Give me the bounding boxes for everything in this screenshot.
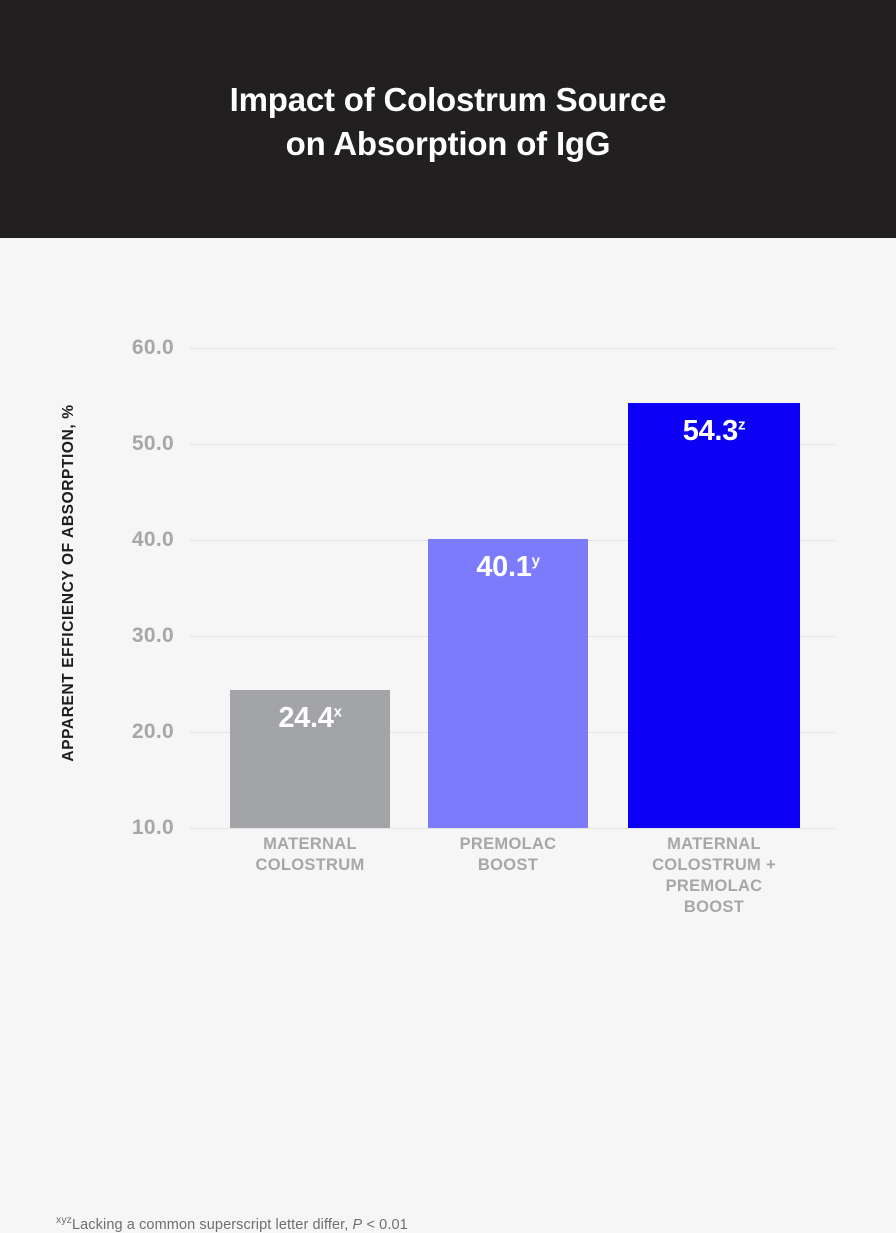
y-axis-tick-label: 50.0	[132, 432, 174, 456]
x-axis-category-label: MATERNALCOLOSTRUM	[208, 834, 412, 876]
footnote-text: Lacking a common superscript letter diff…	[72, 1217, 353, 1233]
chart-header-banner: Impact of Colostrum Source on Absorption…	[0, 0, 896, 238]
bar[interactable]: 24.4x	[230, 690, 390, 828]
x-axis-category-line: MATERNAL	[606, 834, 822, 855]
chart-container: APPARENT EFFICIENCY OF ABSORPTION, % 60.…	[0, 238, 896, 1024]
y-axis-tick-label: 40.0	[132, 528, 174, 552]
bar[interactable]: 40.1y	[428, 539, 588, 828]
page-title-line-1: Impact of Colostrum Source	[230, 81, 667, 118]
significance-letter: y	[532, 552, 540, 569]
bar-group: 54.3zMATERNALCOLOSTRUM +PREMOLACBOOST	[628, 348, 800, 828]
y-axis-tick-label: 30.0	[132, 624, 174, 648]
footnote-stat-symbol: P	[353, 1217, 363, 1233]
bars-layer: 24.4xMATERNALCOLOSTRUM40.1yPREMOLACBOOST…	[190, 348, 835, 828]
x-axis-category-line: MATERNAL	[208, 834, 412, 855]
x-axis-category-label: PREMOLACBOOST	[406, 834, 610, 876]
x-axis-category-line: BOOST	[406, 855, 610, 876]
footnote: xyzLacking a common superscript letter d…	[56, 1217, 408, 1233]
y-axis-tick-label: 10.0	[132, 816, 174, 840]
x-axis-category-label: MATERNALCOLOSTRUM +PREMOLACBOOST	[606, 834, 822, 918]
bar-group: 40.1yPREMOLACBOOST	[428, 348, 588, 828]
bar-value-label: 24.4x	[230, 704, 390, 733]
significance-letter: z	[738, 416, 745, 433]
bar-value-label: 40.1y	[428, 553, 588, 582]
plot-area: 60.050.040.030.020.010.0 24.4xMATERNALCO…	[190, 348, 835, 828]
x-axis-category-line: BOOST	[606, 897, 822, 918]
x-axis-category-line: COLOSTRUM	[208, 855, 412, 876]
footnote-stat-value: < 0.01	[362, 1217, 407, 1233]
y-axis-tick-label: 60.0	[132, 336, 174, 360]
gridline: 10.0	[190, 828, 835, 829]
y-axis-title: APPARENT EFFICIENCY OF ABSORPTION, %	[54, 333, 84, 833]
footnote-superscripts: xyz	[56, 1215, 72, 1226]
bar-value-label: 54.3z	[628, 417, 800, 446]
x-axis-category-line: PREMOLAC	[406, 834, 610, 855]
bar[interactable]: 54.3z	[628, 403, 800, 828]
page-title: Impact of Colostrum Source on Absorption…	[230, 72, 667, 165]
page-title-line-2: on Absorption of IgG	[230, 122, 667, 166]
x-axis-category-line: COLOSTRUM +	[606, 855, 822, 876]
bar-group: 24.4xMATERNALCOLOSTRUM	[230, 348, 390, 828]
x-axis-category-line: PREMOLAC	[606, 876, 822, 897]
y-axis-tick-label: 20.0	[132, 720, 174, 744]
significance-letter: x	[334, 703, 342, 720]
